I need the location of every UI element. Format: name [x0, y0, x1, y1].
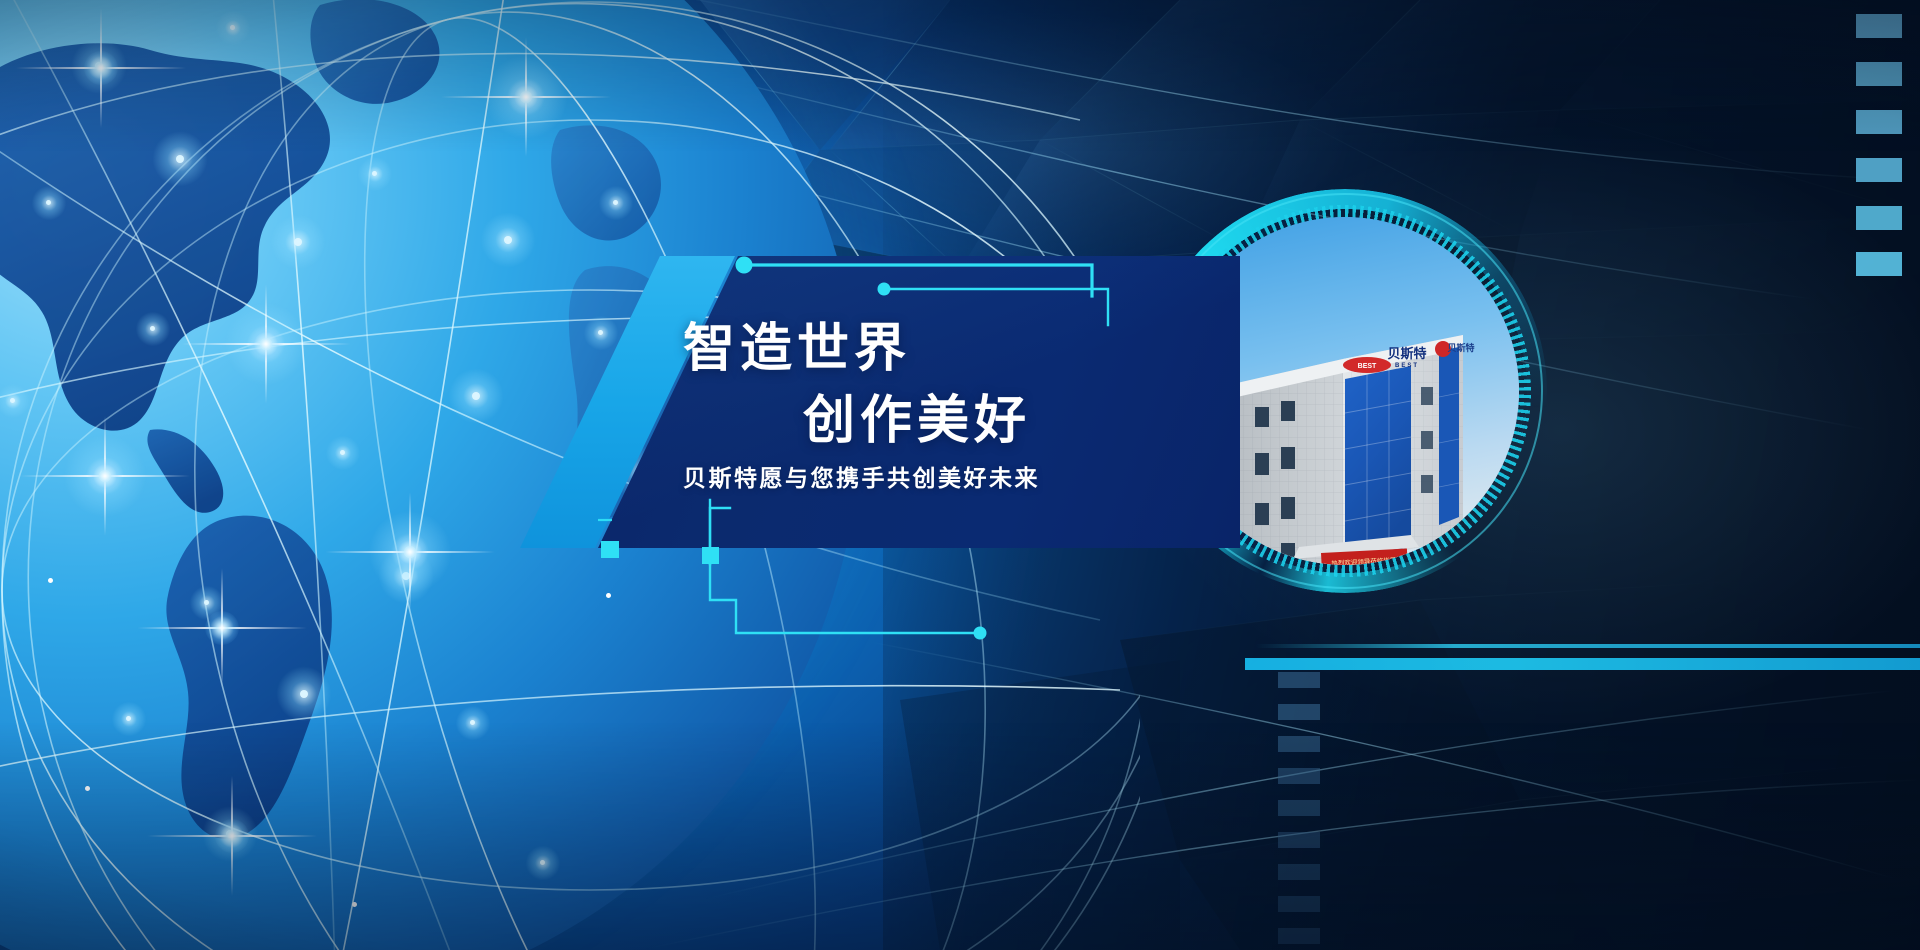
banner-subtitle: 贝斯特愿与您携手共创美好未来 [683, 459, 1040, 493]
decor-bar [1856, 206, 1902, 230]
hero-banner: BEST 贝斯特 BEST 贝斯特 热烈欢迎领导莅临指导 [0, 0, 1920, 950]
decor-bar [1278, 896, 1320, 912]
decor-bar [1278, 736, 1320, 752]
decor-bar [1856, 252, 1902, 276]
decor-bar [1278, 800, 1320, 816]
decor-bar [1278, 928, 1320, 944]
svg-text:贝斯特: 贝斯特 [1447, 342, 1474, 353]
decor-bar [1856, 158, 1902, 182]
decor-bar [1278, 672, 1320, 688]
headline-line-1: 智造世界 [683, 306, 911, 381]
svg-text:BEST: BEST [1358, 363, 1377, 370]
decor-bar [1856, 110, 1902, 134]
svg-text:贝斯特: 贝斯特 [1387, 346, 1426, 361]
lower-bar-stack [1278, 672, 1320, 950]
headline-line-2: 创作美好 [803, 378, 1031, 453]
cyan-sweep-band-thin [1255, 644, 1920, 648]
accent-square-small [601, 541, 619, 558]
svg-text:BEST: BEST [1395, 363, 1419, 369]
decor-bar [1278, 768, 1320, 784]
right-bar-stack [1856, 14, 1902, 276]
decor-bar [1278, 832, 1320, 848]
decor-bar [1856, 62, 1902, 86]
cyan-sweep-band [1245, 658, 1920, 670]
decor-bar [1856, 14, 1902, 38]
decor-bar [1278, 704, 1320, 720]
decor-bar [1278, 864, 1320, 880]
